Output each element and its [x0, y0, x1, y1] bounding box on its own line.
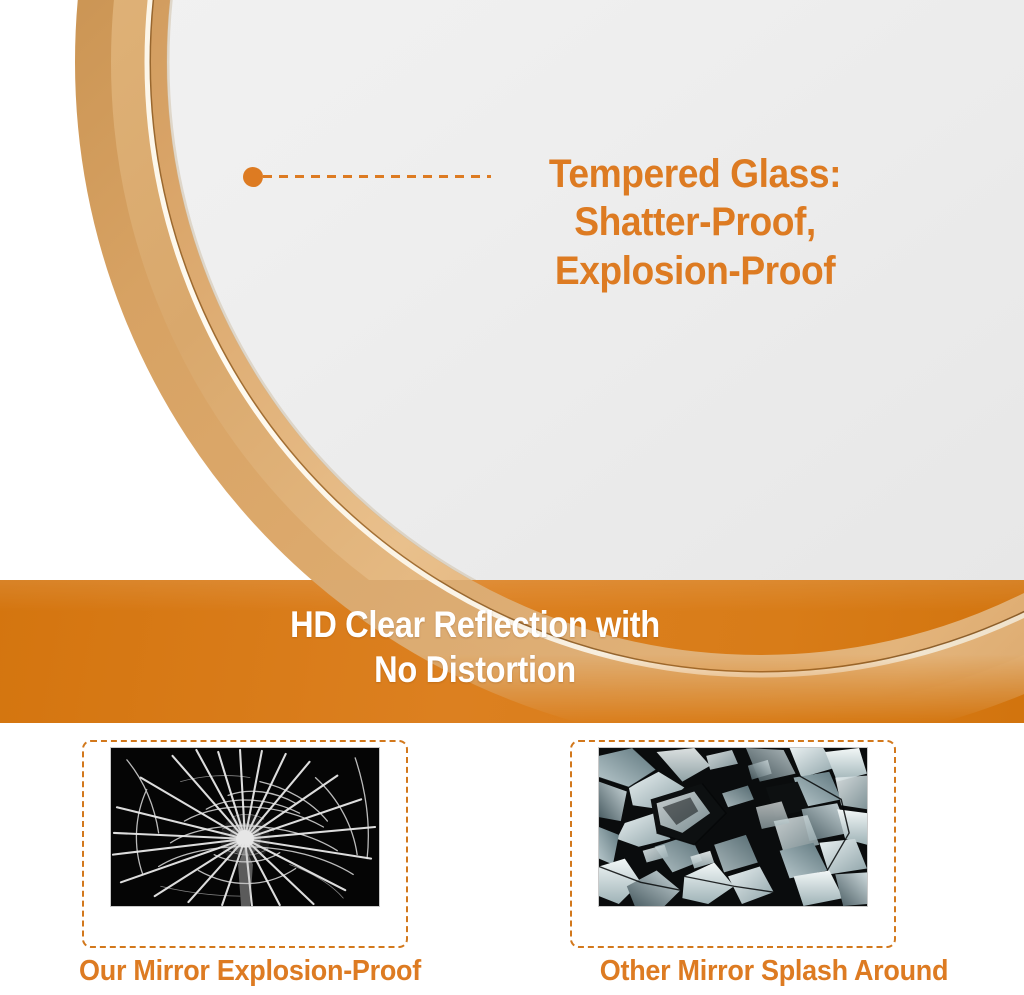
callout-heading: Tempered Glass: Shatter-Proof, Explosion…: [495, 150, 895, 295]
comparison-item-other-mirror: Other Mirror Splash Around: [512, 723, 1024, 995]
comparison-item-our-mirror: Our Mirror Explosion-Proof: [0, 723, 512, 995]
product-infographic: Tempered Glass: Shatter-Proof, Explosion…: [0, 0, 1024, 995]
comparison-caption: Our Mirror Explosion-Proof: [12, 955, 488, 988]
cracked-mirror-photo: [110, 747, 380, 907]
callout-dot-icon: [243, 167, 263, 187]
hero-product-image: Tempered Glass: Shatter-Proof, Explosion…: [0, 0, 1024, 580]
banner-headline: HD Clear Reflection with No Distortion: [57, 602, 893, 692]
dashed-leader-line-icon: [263, 175, 491, 178]
comparison-caption: Other Mirror Splash Around: [536, 955, 1012, 988]
shattered-mirror-photo: [598, 747, 868, 907]
feature-banner: HD Clear Reflection with No Distortion: [0, 580, 1024, 723]
comparison-section: Our Mirror Explosion-Proof: [0, 723, 1024, 995]
